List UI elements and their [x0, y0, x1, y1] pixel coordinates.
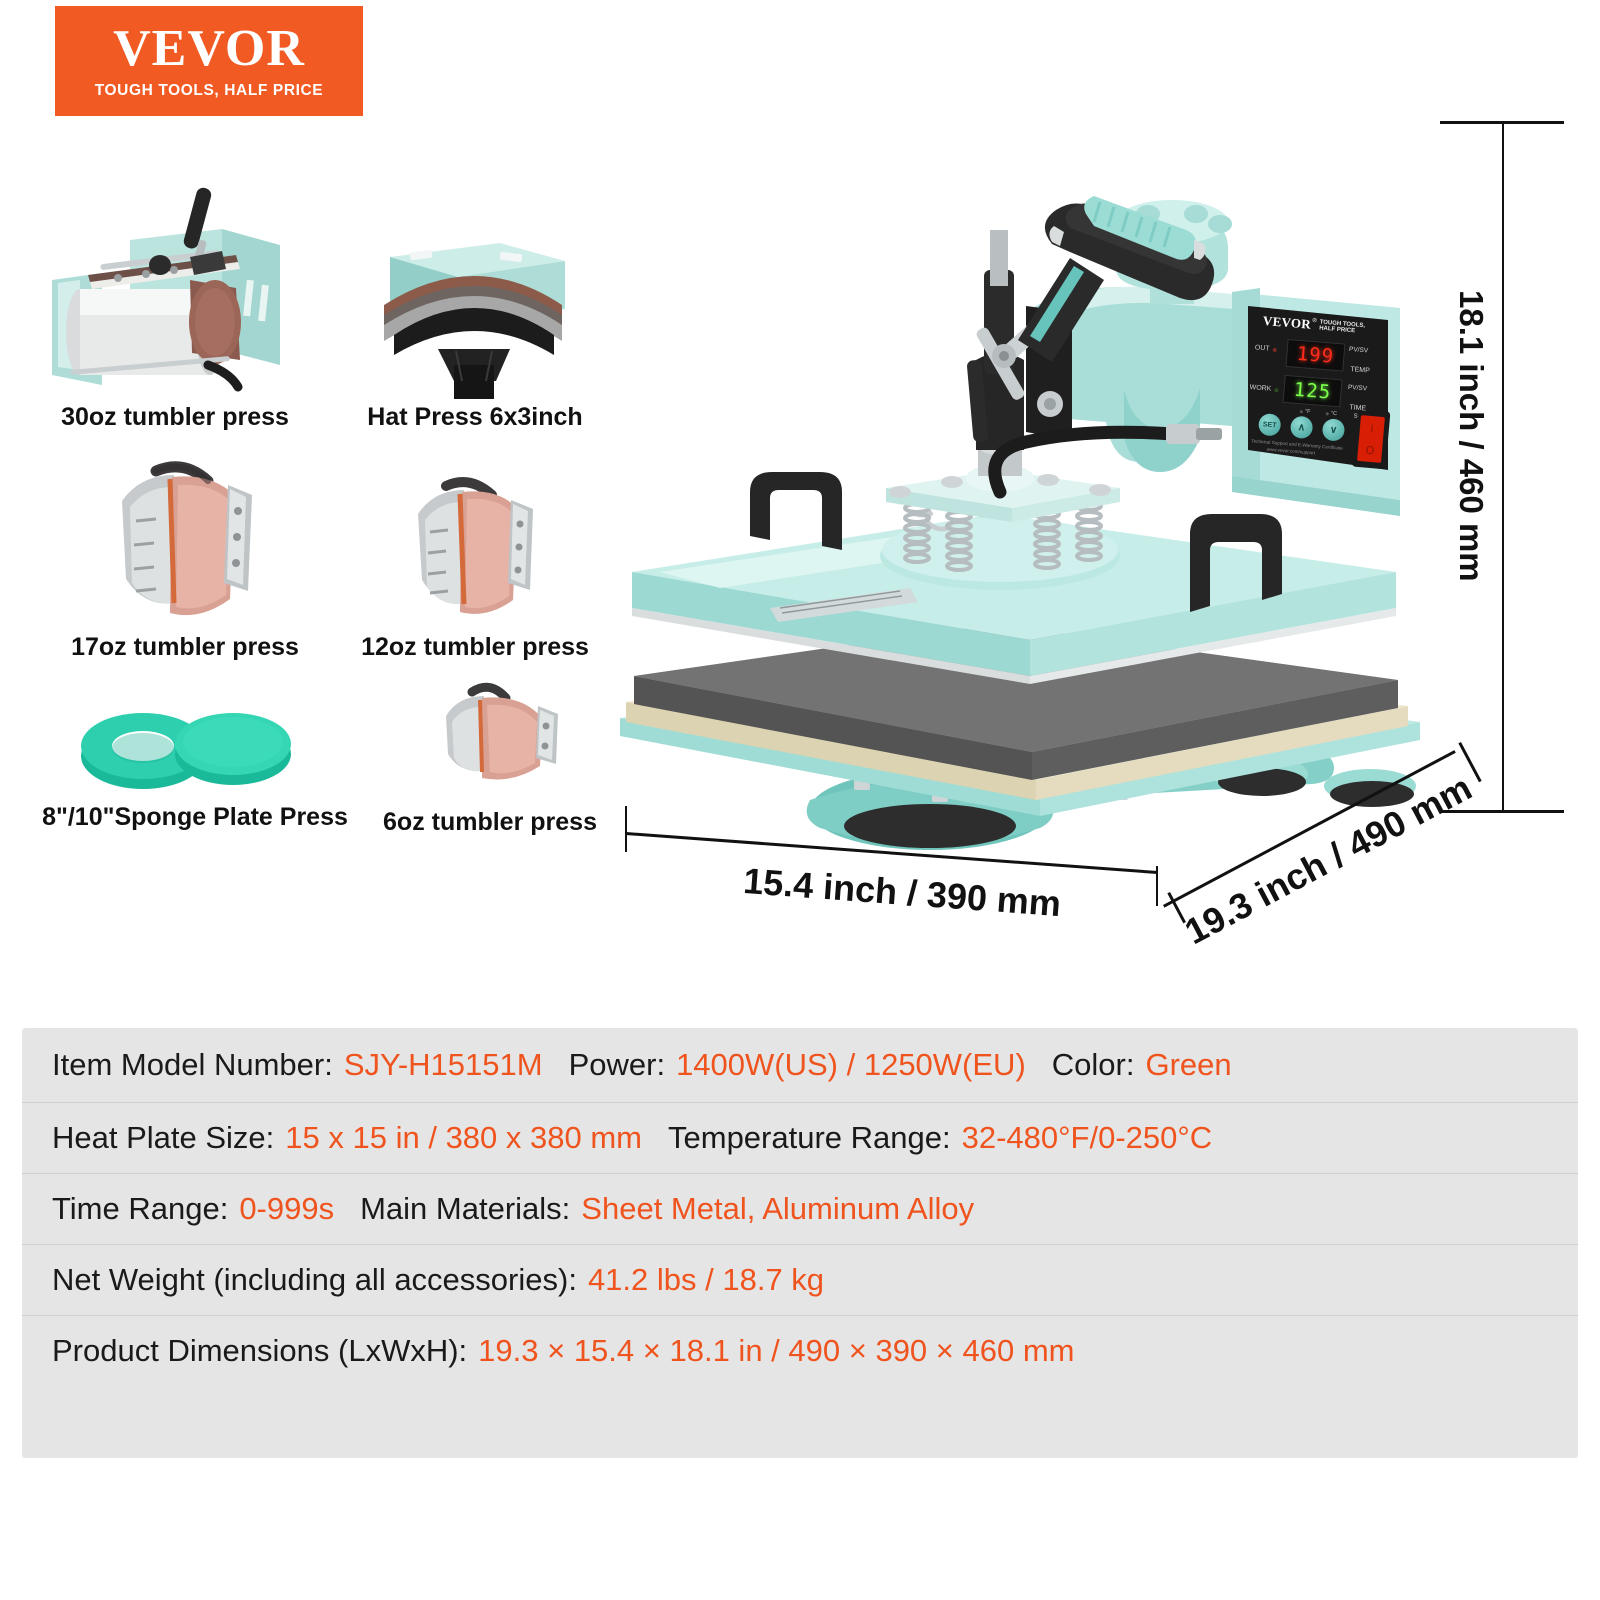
fahrenheit-led	[1300, 410, 1303, 413]
spec-row-0: Item Model Number: SJY-H15151M Power: 14…	[22, 1028, 1578, 1103]
spec-label-power: Power:	[569, 1047, 665, 1083]
spec-label-color: Color:	[1052, 1047, 1135, 1083]
temp-label: TEMP	[1350, 366, 1370, 375]
set-button[interactable]: SET	[1258, 413, 1282, 437]
infographic-root: VEVOR TOUGH TOOLS, HALF PRICE	[0, 0, 1600, 1600]
width-dim-tick-left	[625, 806, 627, 852]
tumbler-cone-press-icon	[360, 470, 590, 630]
accessory-item-2: 17oz tumbler press	[60, 455, 310, 670]
accessory-item-1: Hat Press 6x3inch	[350, 185, 600, 450]
time-display: 125	[1282, 375, 1342, 408]
hat-press-icon	[350, 185, 600, 400]
spec-label-plate-size: Heat Plate Size:	[52, 1120, 274, 1156]
spec-value-materials: Sheet Metal, Aluminum Alloy	[581, 1191, 974, 1227]
temperature-value: 199	[1296, 343, 1335, 368]
celsius-led	[1326, 412, 1329, 415]
spec-label-product-dims: Product Dimensions (LxWxH):	[52, 1333, 467, 1369]
work-indicator-led	[1274, 388, 1278, 392]
celsius-label: °C	[1331, 411, 1338, 417]
pv-sv-top-label: PV/SV	[1349, 346, 1369, 355]
spec-row-4: Product Dimensions (LxWxH): 19.3 × 15.4 …	[22, 1316, 1578, 1386]
out-indicator-led	[1272, 347, 1276, 351]
panel-brand: VEVOR	[1262, 313, 1311, 333]
out-label: OUT	[1255, 344, 1270, 352]
accessory-item-0: 30oz tumbler press	[40, 185, 310, 450]
decrease-button[interactable]: ∨	[1322, 418, 1346, 442]
spec-label-net-weight: Net Weight (including all accessories):	[52, 1262, 577, 1298]
spec-label-model: Item Model Number:	[52, 1047, 333, 1083]
sponge-plate-icon	[55, 690, 335, 800]
spec-value-plate-size: 15 x 15 in / 380 x 380 mm	[285, 1120, 642, 1156]
accessory-label-0: 30oz tumbler press	[61, 403, 289, 432]
accessory-item-5: 6oz tumbler press	[380, 680, 600, 840]
height-dim-cap-top	[1440, 121, 1564, 124]
width-dim-tick-right	[1156, 866, 1158, 906]
spec-value-model: SJY-H15151M	[344, 1047, 543, 1083]
pv-sv-bottom-label: PV/SV	[1348, 384, 1368, 393]
accessory-label-2: 17oz tumbler press	[71, 633, 299, 662]
spec-label-time-range: Time Range:	[52, 1191, 228, 1227]
accessory-label-1: Hat Press 6x3inch	[367, 403, 582, 432]
height-dim-line	[1502, 122, 1504, 812]
accessory-label-5: 6oz tumbler press	[383, 808, 597, 837]
control-panel: VEVOR ® TOUGH TOOLS, HALF PRICE OUT WORK…	[1240, 308, 1385, 464]
tumbler-small-press-icon	[380, 680, 600, 805]
panel-registered-mark: ®	[1312, 318, 1317, 324]
spec-row-1: Heat Plate Size: 15 x 15 in / 380 x 380 …	[22, 1103, 1578, 1174]
accessory-label-4: 8"/10"Sponge Plate Press	[42, 803, 348, 832]
tumbler-cone-press-icon	[60, 455, 310, 630]
spec-label-temp-range: Temperature Range:	[668, 1120, 951, 1156]
spec-value-power: 1400W(US) / 1250W(EU)	[676, 1047, 1026, 1083]
spec-value-net-weight: 41.2 lbs / 18.7 kg	[588, 1262, 824, 1298]
vevor-logo: VEVOR TOUGH TOOLS, HALF PRICE	[55, 6, 363, 116]
accessory-item-3: 12oz tumbler press	[360, 470, 590, 670]
spec-value-time-range: 0-999s	[239, 1191, 334, 1227]
heat-press-machine-illustration: I O VEVOR ® TOUGH TOOLS, HALF PRICE OUT …	[600, 110, 1460, 870]
time-label: TIME	[1349, 404, 1366, 412]
spec-value-color: Green	[1145, 1047, 1231, 1083]
fahrenheit-label: °F	[1305, 409, 1311, 415]
tumbler-roller-press-icon	[40, 185, 310, 400]
spec-row-3: Net Weight (including all accessories): …	[22, 1245, 1578, 1316]
work-label: WORK	[1249, 384, 1271, 393]
spec-value-temp-range: 32-480°F/0-250°C	[962, 1120, 1213, 1156]
logo-tagline: TOUGH TOOLS, HALF PRICE	[95, 82, 324, 100]
increase-button[interactable]: ∧	[1290, 416, 1314, 440]
spec-value-product-dims: 19.3 × 15.4 × 18.1 in / 490 × 390 × 460 …	[478, 1333, 1074, 1369]
spec-label-materials: Main Materials:	[360, 1191, 570, 1227]
accessory-label-3: 12oz tumbler press	[361, 633, 589, 662]
time-value: 125	[1293, 379, 1332, 404]
height-dim-text: 18.1 inch / 460 mm	[1452, 290, 1490, 582]
spec-row-2: Time Range: 0-999s Main Materials: Sheet…	[22, 1174, 1578, 1245]
temperature-display: 199	[1285, 339, 1345, 372]
time-unit-label: S	[1353, 414, 1357, 420]
logo-wordmark: VEVOR	[113, 23, 305, 75]
accessory-item-4: 8"/10"Sponge Plate Press	[55, 690, 335, 840]
specifications-panel: Item Model Number: SJY-H15151M Power: 14…	[22, 1028, 1578, 1458]
